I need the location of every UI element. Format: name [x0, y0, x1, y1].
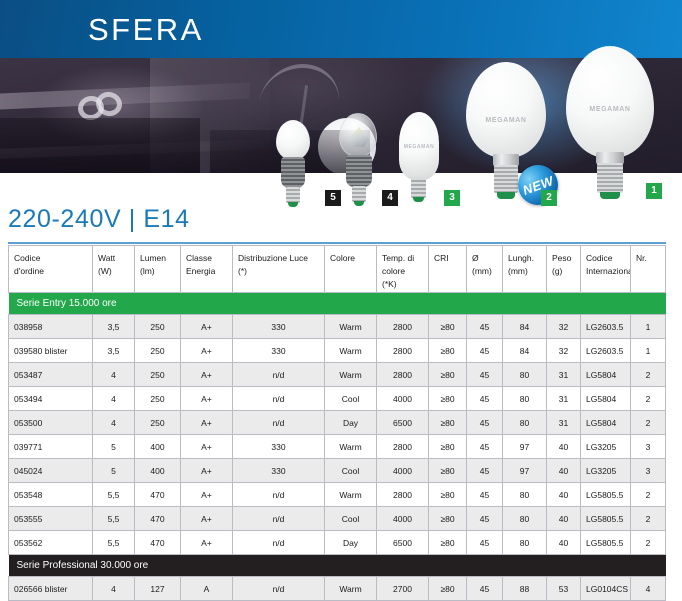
header-line: Internazionale	[586, 265, 625, 278]
cell-lumen: 250	[135, 387, 181, 411]
cell-watt: 5,5	[93, 531, 135, 555]
cell-cri: ≥80	[429, 483, 467, 507]
cell-colore: Warm	[325, 315, 377, 339]
header-line: Classe	[186, 252, 227, 265]
cell-lungh: 80	[503, 507, 547, 531]
cell-: 45	[467, 339, 503, 363]
cell-peso: 31	[547, 411, 581, 435]
cell-: 45	[467, 411, 503, 435]
specs-table-container: Codiced'ordineWatt(W)Lumen(lm)ClasseEner…	[8, 242, 666, 601]
col-header-3: ClasseEnergia	[181, 246, 233, 293]
bulb-glass	[466, 62, 546, 158]
cell-distribuzione: 330	[233, 315, 325, 339]
cell-temp: 2800	[377, 435, 429, 459]
cell-colore: Warm	[325, 577, 377, 601]
brand-label: MEGAMAN	[566, 106, 654, 113]
cell-lumen: 400	[135, 435, 181, 459]
cell-watt: 5	[93, 459, 135, 483]
header-line: (W)	[98, 265, 129, 278]
cell-peso: 40	[547, 483, 581, 507]
bulb-screw-base	[494, 165, 518, 193]
cell-temp: 6500	[377, 411, 429, 435]
table-header-row: Codiced'ordineWatt(W)Lumen(lm)ClasseEner…	[9, 246, 666, 293]
cell-cri: ≥80	[429, 435, 467, 459]
cell-watt: 3,5	[93, 315, 135, 339]
cell-classe: A+	[181, 459, 233, 483]
cell-lungh: 80	[503, 531, 547, 555]
cell-: 45	[467, 507, 503, 531]
cell-codice: 039771	[9, 435, 93, 459]
brand-label: MEGAMAN	[399, 144, 439, 150]
bulb-screw-base	[352, 186, 366, 202]
header-line: Ø	[472, 252, 497, 265]
cell-colore: Cool	[325, 507, 377, 531]
header-line: Distribuzione Luce	[238, 252, 319, 265]
cell-distribuzione: 330	[233, 459, 325, 483]
section-header-row: Serie Professional 30.000 ore	[9, 555, 666, 577]
cell-nr: 2	[631, 531, 666, 555]
table-row: 0534874250A+n/dWarm2800≥80458031LG58042	[9, 363, 666, 387]
cell-peso: 40	[547, 459, 581, 483]
header-line: Watt	[98, 252, 129, 265]
cell-watt: 5	[93, 435, 135, 459]
cell-lumen: 470	[135, 507, 181, 531]
brand-label: MEGAMAN	[466, 117, 546, 124]
cell-: 45	[467, 531, 503, 555]
cell-watt: 5,5	[93, 507, 135, 531]
product-datasheet-page: SFERA 5 4 MEGAMAN 3	[0, 0, 682, 601]
header-line: (lm)	[140, 265, 175, 278]
bulb-tip	[288, 202, 298, 207]
cell-cri: ≥80	[429, 577, 467, 601]
cell-distribuzione: n/d	[233, 483, 325, 507]
cell-: 45	[467, 483, 503, 507]
cell-codice: 053555	[9, 507, 93, 531]
cell-temp: 2800	[377, 339, 429, 363]
cell-: 45	[467, 363, 503, 387]
header-line: (*)	[238, 265, 319, 278]
table-row: 0397715400A+330Warm2800≥80459740LG32053	[9, 435, 666, 459]
cell-distribuzione: n/d	[233, 387, 325, 411]
section-label: Serie Professional 30.000 ore	[9, 555, 666, 577]
cell-lumen: 127	[135, 577, 181, 601]
bulb-glass	[566, 46, 654, 158]
cell-nr: 1	[631, 315, 666, 339]
table-row: 0534944250A+n/dCool4000≥80458031LG58042	[9, 387, 666, 411]
cell-classe: A+	[181, 339, 233, 363]
cell-colore: Warm	[325, 435, 377, 459]
cell-lumen: 470	[135, 531, 181, 555]
cell-classe: A	[181, 577, 233, 601]
cell-cri: ≥80	[429, 411, 467, 435]
cell-lumen: 400	[135, 459, 181, 483]
header-line: Peso	[552, 252, 575, 265]
bulb-tip	[600, 192, 620, 199]
cell-temp: 6500	[377, 531, 429, 555]
cell-watt: 4	[93, 577, 135, 601]
cell-: 45	[467, 577, 503, 601]
header-line: Energia	[186, 265, 227, 278]
cell-classe: A+	[181, 411, 233, 435]
cell-: 45	[467, 315, 503, 339]
col-header-4: Distribuzione Luce(*)	[233, 246, 325, 293]
header-line: (*K)	[382, 278, 423, 291]
cell-distribuzione: n/d	[233, 411, 325, 435]
bulb-tip	[413, 197, 424, 202]
col-header-6: Temp. dicolore(*K)	[377, 246, 429, 293]
cell-codice: LG2603.5	[581, 339, 631, 363]
col-header-8: Ø(mm)	[467, 246, 503, 293]
cell-nr: 2	[631, 387, 666, 411]
cell-nr: 2	[631, 363, 666, 387]
cell-lungh: 97	[503, 459, 547, 483]
bulb-5	[272, 120, 314, 208]
cell-codice: LG5805.5	[581, 507, 631, 531]
table-row: 026566 blister4127An/dWarm2700≥80458853L…	[9, 577, 666, 601]
cell-colore: Warm	[325, 483, 377, 507]
cell-lungh: 80	[503, 363, 547, 387]
cell-: 45	[467, 435, 503, 459]
cell-lumen: 470	[135, 483, 181, 507]
cell-peso: 40	[547, 435, 581, 459]
cell-temp: 4000	[377, 387, 429, 411]
cell-classe: A+	[181, 483, 233, 507]
bulb-3: MEGAMAN	[396, 112, 442, 208]
cell-lungh: 80	[503, 387, 547, 411]
cell-peso: 32	[547, 339, 581, 363]
cell-lungh: 80	[503, 483, 547, 507]
bulb-tip	[497, 192, 515, 199]
table-row: 0535555,5470A+n/dCool4000≥80458040LG5805…	[9, 507, 666, 531]
badge-3: 3	[444, 190, 460, 206]
cell-distribuzione: n/d	[233, 577, 325, 601]
header-line: Lumen	[140, 252, 175, 265]
cell-temp: 2800	[377, 315, 429, 339]
header-line: Codice	[586, 252, 625, 265]
section-header-row: Serie Entry 15.000 ore	[9, 293, 666, 315]
table-row: 0535625,5470A+n/dDay6500≥80458040LG5805.…	[9, 531, 666, 555]
header-line: Temp. di	[382, 252, 423, 265]
cell-: 45	[467, 387, 503, 411]
table-row: 0450245400A+330Cool4000≥80459740LG32053	[9, 459, 666, 483]
cell-codice: LG5804	[581, 387, 631, 411]
cell-cri: ≥80	[429, 363, 467, 387]
cell-cri: ≥80	[429, 339, 467, 363]
cell-temp: 4000	[377, 507, 429, 531]
col-header-12: Nr.	[631, 246, 666, 293]
cell-nr: 3	[631, 459, 666, 483]
cell-distribuzione: 330	[233, 339, 325, 363]
col-header-5: Colore	[325, 246, 377, 293]
cell-codice: 053494	[9, 387, 93, 411]
cell-watt: 4	[93, 387, 135, 411]
bulb-heatsink	[346, 155, 372, 187]
cell-codice: LG2603.5	[581, 315, 631, 339]
cell-codice: 039580 blister	[9, 339, 93, 363]
cell-classe: A+	[181, 531, 233, 555]
cell-peso: 53	[547, 577, 581, 601]
col-header-10: Peso(g)	[547, 246, 581, 293]
cell-cri: ≥80	[429, 507, 467, 531]
cell-colore: Cool	[325, 387, 377, 411]
bulb-tip	[354, 201, 364, 206]
col-header-2: Lumen(lm)	[135, 246, 181, 293]
col-header-11: CodiceInternazionale	[581, 246, 631, 293]
cell-codice: LG5804	[581, 363, 631, 387]
cell-classe: A+	[181, 435, 233, 459]
cell-classe: A+	[181, 315, 233, 339]
cell-lumen: 250	[135, 411, 181, 435]
cell-peso: 31	[547, 363, 581, 387]
bulb-screw-base	[411, 178, 426, 198]
cell-temp: 4000	[377, 459, 429, 483]
header-line: d'ordine	[14, 265, 87, 278]
cell-colore: Day	[325, 411, 377, 435]
badge-2: 2	[541, 190, 557, 206]
header-line: Codice	[14, 252, 87, 265]
cell-lungh: 84	[503, 339, 547, 363]
cell-cri: ≥80	[429, 387, 467, 411]
cell-codice: 053562	[9, 531, 93, 555]
cell-classe: A+	[181, 387, 233, 411]
cell-classe: A+	[181, 507, 233, 531]
cell-cri: ≥80	[429, 459, 467, 483]
specs-table: Codiced'ordineWatt(W)Lumen(lm)ClasseEner…	[8, 245, 666, 601]
cell-codice: 026566 blister	[9, 577, 93, 601]
cell-watt: 3,5	[93, 339, 135, 363]
cell-temp: 2800	[377, 483, 429, 507]
header-line: (mm)	[508, 265, 541, 278]
voltage-socket-subtitle: 220-240V | E14	[8, 205, 190, 234]
header-line: Colore	[330, 252, 371, 265]
cell-colore: Cool	[325, 459, 377, 483]
header-line: (mm)	[472, 265, 497, 278]
col-header-0: Codiced'ordine	[9, 246, 93, 293]
table-row: 0535004250A+n/dDay6500≥80458031LG58042	[9, 411, 666, 435]
cell-classe: A+	[181, 363, 233, 387]
cell-codice: LG0104CS	[581, 577, 631, 601]
cell-codice: LG5804	[581, 411, 631, 435]
bulb-4	[336, 113, 382, 208]
cell-codice: 053500	[9, 411, 93, 435]
bulb-glass	[276, 120, 310, 160]
bulb-screw-base	[597, 163, 623, 193]
table-row: 0389583,5250A+330Warm2800≥80458432LG2603…	[9, 315, 666, 339]
cell-peso: 31	[547, 387, 581, 411]
cell-nr: 1	[631, 339, 666, 363]
cell-nr: 2	[631, 507, 666, 531]
badge-1: 1	[646, 183, 662, 199]
cell-codice: 053487	[9, 363, 93, 387]
cell-nr: 2	[631, 483, 666, 507]
cell-watt: 5,5	[93, 483, 135, 507]
cell-codice: 038958	[9, 315, 93, 339]
col-header-7: CRI	[429, 246, 467, 293]
cell-nr: 3	[631, 435, 666, 459]
cell-cri: ≥80	[429, 315, 467, 339]
cell-watt: 4	[93, 363, 135, 387]
cell-: 45	[467, 459, 503, 483]
cell-colore: Warm	[325, 363, 377, 387]
table-row: 039580 blister3,5250A+330Warm2800≥804584…	[9, 339, 666, 363]
cell-lungh: 97	[503, 435, 547, 459]
cell-lungh: 88	[503, 577, 547, 601]
table-row: 0535485,5470A+n/dWarm2800≥80458040LG5805…	[9, 483, 666, 507]
cell-watt: 4	[93, 411, 135, 435]
cell-cri: ≥80	[429, 531, 467, 555]
header-line: Lungh.	[508, 252, 541, 265]
cell-codice: 053548	[9, 483, 93, 507]
cell-codice: LG3205	[581, 459, 631, 483]
cell-temp: 2800	[377, 363, 429, 387]
cell-lungh: 80	[503, 411, 547, 435]
cell-peso: 32	[547, 315, 581, 339]
cell-peso: 40	[547, 507, 581, 531]
page-title: SFERA	[88, 10, 204, 50]
table-head: Codiced'ordineWatt(W)Lumen(lm)ClasseEner…	[9, 246, 666, 293]
header-line: colore	[382, 265, 423, 278]
cell-distribuzione: 330	[233, 435, 325, 459]
table-top-rule	[8, 242, 666, 244]
cell-distribuzione: n/d	[233, 507, 325, 531]
cell-colore: Day	[325, 531, 377, 555]
cell-lumen: 250	[135, 315, 181, 339]
header-line: CRI	[434, 252, 461, 265]
cell-codice: LG3205	[581, 435, 631, 459]
table-body: Serie Entry 15.000 ore0389583,5250A+330W…	[9, 293, 666, 601]
cell-codice: LG5805.5	[581, 531, 631, 555]
cell-distribuzione: n/d	[233, 363, 325, 387]
bulb-1: MEGAMAN	[562, 46, 658, 208]
cell-lumen: 250	[135, 339, 181, 363]
cell-peso: 40	[547, 531, 581, 555]
header-line: (g)	[552, 265, 575, 278]
cell-distribuzione: n/d	[233, 531, 325, 555]
cell-nr: 2	[631, 411, 666, 435]
cell-codice: LG5805.5	[581, 483, 631, 507]
cell-nr: 4	[631, 577, 666, 601]
col-header-1: Watt(W)	[93, 246, 135, 293]
bulb-heatsink	[281, 157, 305, 188]
cell-temp: 2700	[377, 577, 429, 601]
bulb-screw-base	[286, 187, 300, 203]
col-header-9: Lungh.(mm)	[503, 246, 547, 293]
cell-colore: Warm	[325, 339, 377, 363]
cell-codice: 045024	[9, 459, 93, 483]
cell-lungh: 84	[503, 315, 547, 339]
header-line: Nr.	[636, 252, 660, 265]
cell-lumen: 250	[135, 363, 181, 387]
section-label: Serie Entry 15.000 ore	[9, 293, 666, 315]
